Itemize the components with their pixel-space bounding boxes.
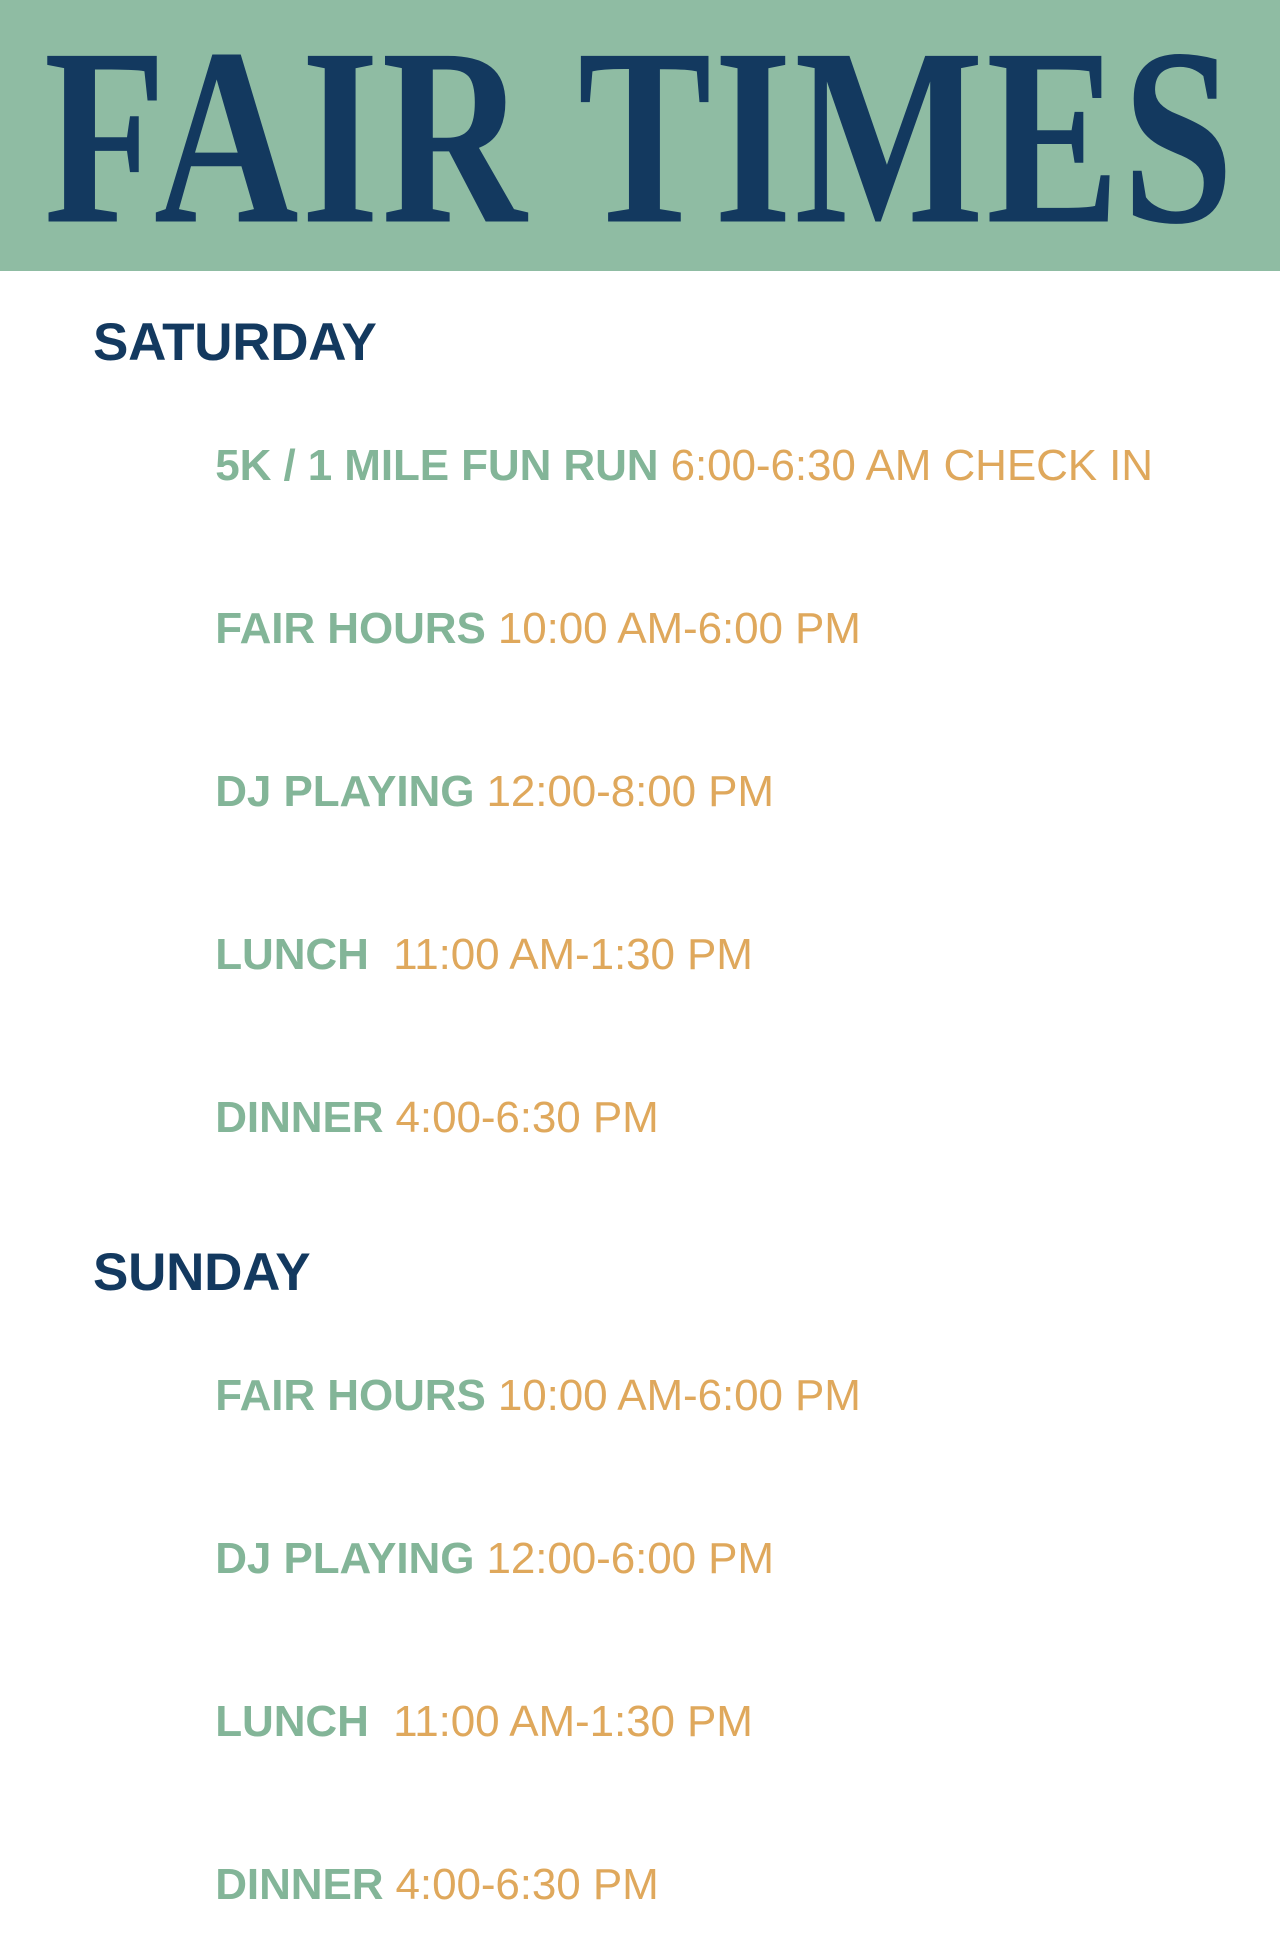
event-separator [369,930,393,979]
event-separator [369,1697,393,1746]
event-row: FAIR HOURS 10:00 AM-6:00 PM [93,1330,1280,1462]
event-time: 11:00 AM-1:30 PM [393,1697,753,1746]
event-label: DJ PLAYING [215,1534,474,1583]
event-row: DINNER 4:00-6:30 PM [93,1819,1280,1951]
event-time: 4:00-6:30 PM [396,1860,659,1909]
event-row: DJ PLAYING 12:00-6:00 PM [93,1493,1280,1625]
event-time: 12:00-8:00 PM [487,767,774,816]
event-time: 4:00-6:30 PM [396,1093,659,1142]
day-heading-sunday: SUNDAY [93,1246,1280,1299]
header-banner: FAIR TIMES [0,0,1280,271]
event-row: LUNCH 11:00 AM-1:30 PM [93,889,1280,1021]
schedule-section: SATURDAY 5K / 1 MILE FUN RUN 6:00-6:30 A… [0,271,1280,1951]
event-label: DINNER [215,1860,383,1909]
event-label: LUNCH [215,1697,369,1746]
event-time: 12:00-6:00 PM [487,1534,774,1583]
day-block-sunday: SUNDAY FAIR HOURS 10:00 AM-6:00 PM DJ PL… [93,1184,1280,1951]
event-list-sunday: FAIR HOURS 10:00 AM-6:00 PM DJ PLAYING 1… [93,1330,1280,1951]
event-label: DJ PLAYING [215,767,474,816]
event-separator [474,767,486,816]
event-row: 5K / 1 MILE FUN RUN 6:00-6:30 AM CHECK I… [93,400,1280,532]
event-row: FAIR HOURS 10:00 AM-6:00 PM [93,563,1280,695]
event-separator [474,1534,486,1583]
day-block-saturday: SATURDAY 5K / 1 MILE FUN RUN 6:00-6:30 A… [93,271,1280,1184]
event-label: FAIR HOURS [215,1371,485,1420]
fair-times-poster: FAIR TIMES SATURDAY 5K / 1 MILE FUN RUN … [0,0,1280,1280]
event-separator [486,1371,498,1420]
day-heading-saturday: SATURDAY [93,316,1280,369]
event-time: 6:00-6:30 AM CHECK IN [671,441,1153,490]
event-separator [383,1860,395,1909]
event-separator [659,441,671,490]
event-label: FAIR HOURS [215,604,485,653]
event-label: 5K / 1 MILE FUN RUN [215,441,658,490]
event-row: DJ PLAYING 12:00-8:00 PM [93,726,1280,858]
event-time: 11:00 AM-1:30 PM [393,930,753,979]
page-title: FAIR TIMES [44,35,1236,242]
event-list-saturday: 5K / 1 MILE FUN RUN 6:00-6:30 AM CHECK I… [93,400,1280,1184]
event-time: 10:00 AM-6:00 PM [498,1371,861,1420]
event-label: LUNCH [215,930,369,979]
event-row: LUNCH 11:00 AM-1:30 PM [93,1656,1280,1788]
event-separator [383,1093,395,1142]
event-row: DINNER 4:00-6:30 PM [93,1052,1280,1184]
event-label: DINNER [215,1093,383,1142]
event-time: 10:00 AM-6:00 PM [498,604,861,653]
event-separator [486,604,498,653]
